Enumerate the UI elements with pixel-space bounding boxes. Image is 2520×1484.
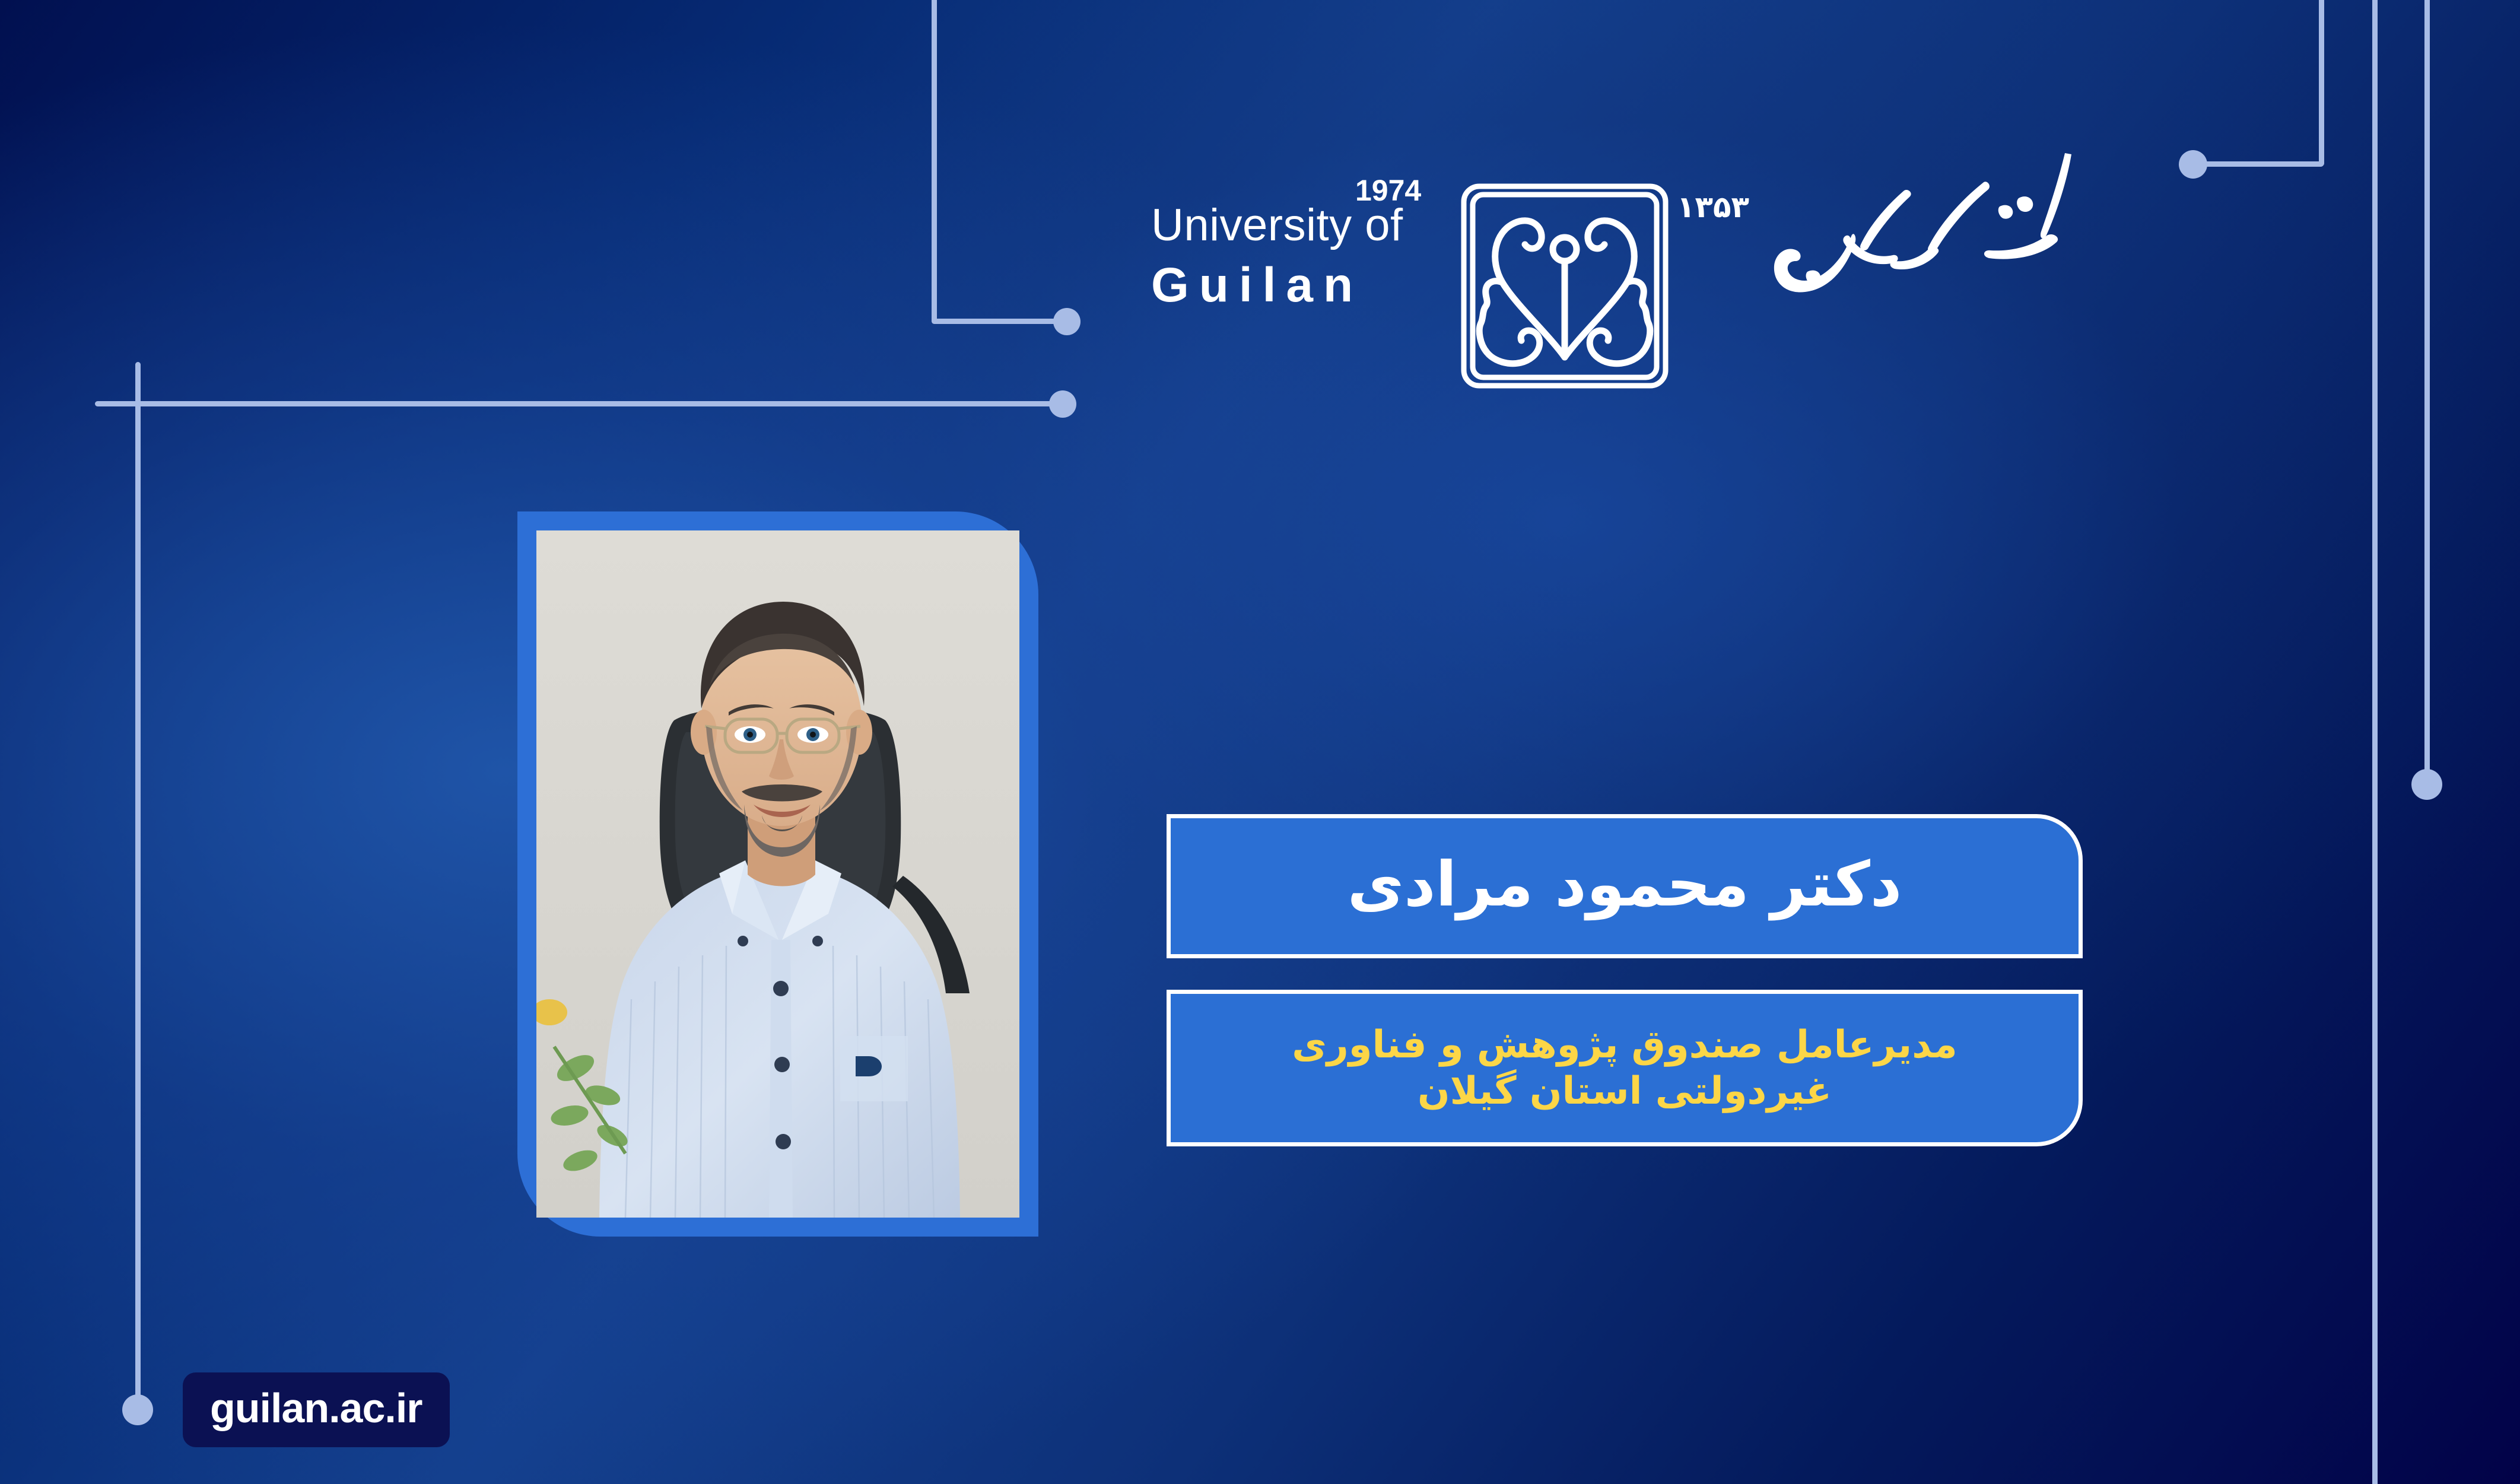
decor-line-right-horizontal [2192,161,2324,167]
university-logo: University of Guilan 1974 ۱۳۵۳ [1151,196,2089,356]
decor-line-right-vertical-3 [2424,0,2430,780]
decor-line-right-vertical-2 [2319,0,2324,166]
website-badge[interactable]: guilan.ac.ir [183,1372,450,1447]
decor-dot-right-vertical-3 [2411,769,2442,800]
person-title-badge: مدیرعامل صندوق پژوهش و فناوری غیردولتی ا… [1167,990,2083,1146]
person-title-line2: غیردولتی استان گیلان [1292,1068,1957,1114]
portrait-photo [536,530,1019,1218]
decor-line-left-vertical [135,362,141,1407]
website-url: guilan.ac.ir [210,1384,422,1432]
logo-english-line1: University of [1151,203,1403,248]
decor-dot-top [1053,308,1081,335]
decor-line-left-horizontal [95,401,1074,406]
logo-founded-year-persian: ۱۳۵۳ [1677,190,1749,224]
decor-line-top-vertical [932,0,937,323]
logo-founded-year-gregorian: 1974 [1355,173,1421,208]
decor-dot-right-horizontal [2179,150,2207,179]
person-name: دکتر محمود مرادی [1348,848,1902,920]
portrait-frame [517,511,1038,1237]
person-title-line1: مدیرعامل صندوق پژوهش و فناوری [1292,1022,1957,1068]
person-title: مدیرعامل صندوق پژوهش و فناوری غیردولتی ا… [1261,1022,1988,1114]
poster-canvas: University of Guilan 1974 ۱۳۵۳ [0,0,2520,1484]
logo-english-line2: Guilan [1151,261,1403,310]
decor-line-right-vertical-1 [2372,0,2378,1484]
decor-line-top-horizontal [932,319,1069,324]
person-name-badge: دکتر محمود مرادی [1167,814,2083,958]
guilan-university-emblem-icon [1460,157,1670,396]
decor-dot-left-vertical [122,1394,153,1425]
logo-persian-name [1750,136,2083,314]
decor-dot-left-horizontal [1049,390,1076,418]
logo-english-text: University of Guilan [1151,203,1403,310]
